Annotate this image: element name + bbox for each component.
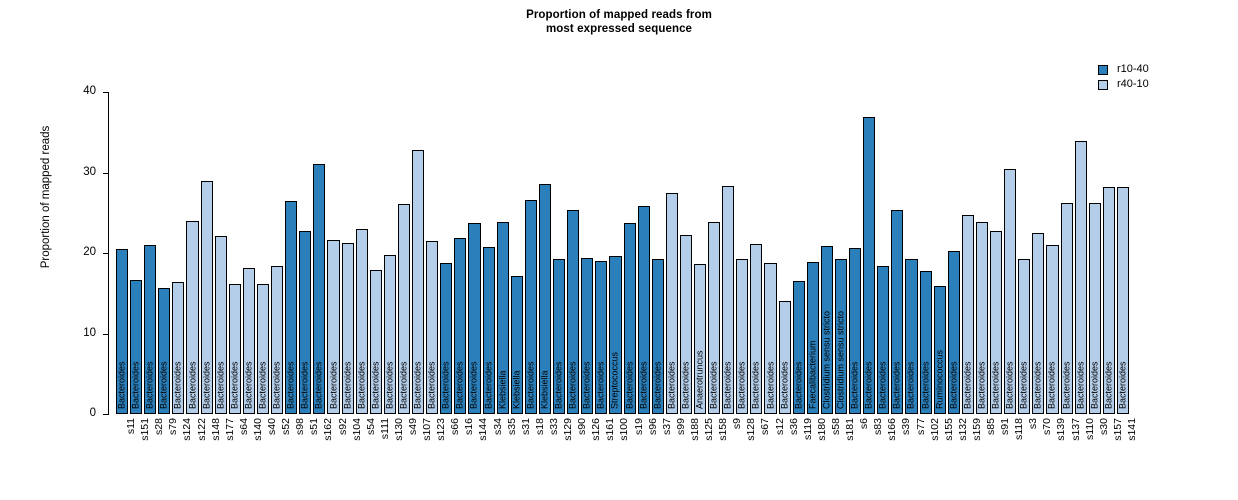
bar: Bacteroides — [722, 186, 734, 414]
x-axis-tick-label: s100 — [619, 418, 629, 441]
bar-taxon-label: Bacteroides — [1076, 361, 1085, 409]
x-axis-tick-label: s137 — [1071, 418, 1081, 441]
bar: Bacteroides — [525, 200, 537, 414]
bar: Clostridium sensu stricto — [835, 259, 847, 414]
bar: Bacteroides — [1117, 187, 1129, 414]
bar: Bacteroides — [1032, 233, 1044, 414]
bar-taxon-label: Bacteroides — [921, 361, 930, 409]
bar-taxon-label: Bacteroides — [385, 361, 394, 409]
bar-taxon-label: Bacteroides — [794, 361, 803, 409]
y-axis-tick-label: 30 — [72, 167, 96, 178]
legend-label-r40-10: r40-10 — [1117, 79, 1149, 90]
legend-swatch-r10-40 — [1098, 65, 1108, 75]
x-axis-tick-label: s31 — [521, 418, 531, 435]
bar-taxon-label: Bacteroides — [160, 361, 169, 409]
chart-title: Proportion of mapped reads from most exp… — [0, 8, 1238, 36]
bar: Bacteroides — [483, 247, 495, 414]
x-axis-tick-label: s188 — [690, 418, 700, 441]
x-axis-tick-label: s77 — [916, 418, 926, 435]
x-axis-tick-label: s70 — [1042, 418, 1052, 435]
x-axis-tick-label: s51 — [309, 418, 319, 435]
legend-swatch-r40-10 — [1098, 80, 1108, 90]
bar: Bacteroides — [877, 266, 889, 414]
bar: Bacteroides — [652, 259, 664, 414]
x-axis-tick-label: s58 — [831, 418, 841, 435]
bar-taxon-label: Bacteroides — [555, 361, 564, 409]
y-axis-tick-label: 20 — [72, 247, 96, 258]
bar: Bacteroides — [342, 243, 354, 414]
bar: Bacteroides — [638, 206, 650, 414]
bar: Bacteroides — [708, 222, 720, 414]
bar-taxon-label: Bacteroides — [1034, 361, 1043, 409]
bar-taxon-label: Bacteroides — [273, 361, 282, 409]
x-axis-tick-label: s181 — [845, 418, 855, 441]
bar-taxon-label: Ruminococcus — [935, 350, 944, 409]
bar-taxon-label: Bacteroides — [174, 361, 183, 409]
x-axis-tick-label: s110 — [1085, 418, 1095, 440]
bar: Bacteroides — [666, 193, 678, 414]
bar-taxon-label: Bacteroides — [992, 361, 1001, 409]
bar-taxon-label: Bacteroides — [118, 361, 127, 409]
bar-taxon-label: Bacteroides — [879, 361, 888, 409]
x-axis-tick-label: s128 — [746, 418, 756, 441]
bar-taxon-label: Bacteroides — [188, 361, 197, 409]
bar: Bacteroides — [793, 281, 805, 414]
bar: Bacteroides — [271, 266, 283, 414]
bar: Bacteroides — [849, 248, 861, 414]
bar: Bacteroides — [201, 181, 213, 414]
x-axis-tick-label: s34 — [493, 418, 503, 435]
x-axis-tick-label: s104 — [352, 418, 362, 441]
bar: Bacteroides — [891, 210, 903, 414]
x-axis-tick-label: s33 — [549, 418, 559, 435]
bar-taxon-label: Bacteroides — [780, 361, 789, 409]
x-axis-tick-label: s92 — [338, 418, 348, 435]
bar: Bacteroides — [130, 280, 142, 414]
bar: Bacteroides — [567, 210, 579, 414]
bar: Bacteroides — [412, 150, 424, 414]
x-axis-tick-label: s30 — [1099, 418, 1109, 435]
x-axis-tick-label: s166 — [887, 418, 897, 441]
y-axis-tick-label: 0 — [72, 408, 96, 419]
bar: Bacteroides — [990, 231, 1002, 414]
x-axis-tick-label: s129 — [563, 418, 573, 441]
bar-taxon-label: Bacteroides — [414, 361, 423, 409]
bar: Bacteroides — [764, 263, 776, 414]
bar-taxon-label: Bacteroides — [301, 361, 310, 409]
x-axis-tick-label: s122 — [197, 418, 207, 441]
bar: Bacteroides — [144, 245, 156, 414]
bar-taxon-label: Bacteroides — [766, 361, 775, 409]
x-axis-tick-label: s107 — [422, 418, 432, 441]
bar-taxon-label: Bacteroides — [399, 361, 408, 409]
bar-taxon-label: Bacteroides — [357, 361, 366, 409]
bar: Bacteroides — [229, 284, 241, 414]
bar-taxon-label: Bacteroides — [259, 361, 268, 409]
x-axis-tick-label: s159 — [972, 418, 982, 441]
bar: Bacteroides — [581, 258, 593, 414]
x-axis-tick-label: s140 — [253, 418, 263, 441]
x-axis-tick-label: s16 — [464, 418, 474, 435]
x-axis-tick-label: s151 — [140, 418, 150, 441]
x-axis-tick-label: s155 — [944, 418, 954, 441]
bar-taxon-label: Klebsiella — [498, 370, 507, 409]
x-axis-tick-label: s3 — [1028, 418, 1038, 429]
bar-taxon-label: Bacteroides — [287, 361, 296, 409]
x-axis-tick-label: s39 — [901, 418, 911, 435]
bar-taxon-label: Clostridium sensu stricto — [837, 311, 846, 409]
bar-taxon-label: Bacteroides — [428, 361, 437, 409]
bar-taxon-label: Streptococcus — [611, 352, 620, 409]
y-axis-tick-label: 10 — [72, 328, 96, 339]
bar-taxon-label: Klebsiella — [512, 370, 521, 409]
x-axis-tick-label: s37 — [662, 418, 672, 435]
bar-taxon-label: Bacteroides — [597, 361, 606, 409]
bar: Bacteroides — [313, 164, 325, 414]
x-axis-tick-label: s102 — [930, 418, 940, 441]
bar-taxon-label: Bacteroides — [329, 361, 338, 409]
x-axis-tick-label: s11 — [126, 418, 136, 434]
x-axis-tick-label: s141 — [1127, 418, 1137, 441]
bar-taxon-label: Bacteroides — [681, 361, 690, 409]
y-axis-label: Proportion of mapped reads — [40, 47, 52, 347]
bar: Bacteroides — [779, 301, 791, 415]
x-axis-tick-label: s6 — [859, 418, 869, 429]
x-axis-tick-label: s85 — [986, 418, 996, 435]
bar-taxon-label: Bacteroides — [1090, 361, 1099, 409]
x-axis-tick-label: s90 — [577, 418, 587, 435]
x-axis-tick-label: s125 — [704, 418, 714, 441]
x-axis-tick-label: s40 — [267, 418, 277, 435]
bar-taxon-label: Bacteroides — [907, 361, 916, 409]
x-axis-tick-label: s119 — [803, 418, 813, 440]
bar: Bacteroides — [468, 223, 480, 414]
bar-taxon-label: Bacteroides — [526, 361, 535, 409]
legend-label-r10-40: r10-40 — [1117, 64, 1149, 75]
bar-taxon-label: Anaerotruncus — [696, 350, 705, 409]
bar: Bacteroides — [736, 259, 748, 414]
x-axis-tick-label: s12 — [775, 418, 785, 435]
chart-canvas: Proportion of mapped reads from most exp… — [0, 0, 1238, 500]
x-axis-tick-label: s36 — [789, 418, 799, 435]
bar-taxon-label: Bacteroides — [1062, 361, 1071, 409]
bar-taxon-label: Bacteroides — [1020, 361, 1029, 409]
x-axis-tick-label: s157 — [1113, 418, 1123, 441]
bar-taxon-label: Bacteroides — [667, 361, 676, 409]
bar: Bacteroides — [595, 261, 607, 414]
chart-legend: r10-40 r40-10 — [1098, 62, 1149, 92]
bar-taxon-label: Bacteroides — [202, 361, 211, 409]
bar-taxon-label: Bacteroides — [470, 361, 479, 409]
bar-taxon-label: Bacteroides — [216, 361, 225, 409]
x-axis-tick-label: s96 — [648, 418, 658, 435]
x-axis-tick-label: s180 — [817, 418, 827, 441]
bar-taxon-label: Bacteroides — [1006, 361, 1015, 409]
bar-taxon-label: Bacteroides — [343, 361, 352, 409]
y-axis-tick — [103, 414, 109, 415]
x-axis-tick-label: s162 — [323, 418, 333, 441]
x-axis-tick-label: s177 — [225, 418, 235, 441]
x-axis-tick-label: s79 — [168, 418, 178, 435]
bar-taxon-label: Bacteroides — [146, 361, 155, 409]
x-axis-tick-label: s18 — [535, 418, 545, 435]
bar: Bacteroides — [750, 244, 762, 414]
bar: Bacteroides — [327, 240, 339, 414]
y-axis-tick — [103, 334, 109, 335]
bar: Clostridium sensu stricto — [821, 246, 833, 414]
bar-taxon-label: Klebsiella — [540, 370, 549, 409]
bar: Bacteroides — [356, 229, 368, 414]
x-axis-tick-label: s99 — [676, 418, 686, 435]
bar: Bacteroides — [920, 271, 932, 414]
bar-taxon-label: Faecalibacterium — [808, 340, 817, 409]
bar: Bacteroides — [1089, 203, 1101, 414]
bar-taxon-label: Bacteroides — [851, 361, 860, 409]
bar-taxon-label: Bacteroides — [1104, 361, 1113, 409]
bar: Bacteroides — [426, 241, 438, 414]
bar: Bacteroides — [440, 263, 452, 414]
chart-title-line2: most expressed sequence — [0, 22, 1238, 36]
x-axis-tick-label: s132 — [958, 418, 968, 441]
bar: Bacteroides — [370, 270, 382, 414]
bar: Bacteroides — [186, 221, 198, 414]
x-axis-tick-label: s161 — [605, 418, 615, 441]
bar-taxon-label: Bacteroides — [569, 361, 578, 409]
bar-taxon-label: Bacteroides — [893, 361, 902, 409]
bar: Bacteroides — [1103, 187, 1115, 414]
bar: Bacteroides — [299, 231, 311, 414]
bar-taxon-label: Clostridium sensu stricto — [822, 311, 831, 409]
bar-taxon-label: Bacteroides — [456, 361, 465, 409]
x-axis-tick-label: s83 — [873, 418, 883, 435]
bar-taxon-label: Bacteroides — [653, 361, 662, 409]
bar: Bacteroides — [680, 235, 692, 415]
bar: Bacteroides — [948, 251, 960, 414]
x-axis-tick-label: s124 — [182, 418, 192, 441]
x-axis-tick-label: s52 — [281, 418, 291, 435]
bar-taxon-label: Bacteroides — [738, 361, 747, 409]
x-axis-tick-label: s91 — [1000, 418, 1010, 435]
y-axis-tick — [103, 92, 109, 93]
bar-taxon-label: Bacteroides — [977, 361, 986, 409]
bar: Klebsiella — [497, 222, 509, 414]
bar: Bacteroides — [257, 284, 269, 414]
bar: Bacteroides — [1075, 141, 1087, 414]
bar: Bacteroides — [1018, 259, 1030, 414]
bar: Bacteroides — [398, 204, 410, 414]
bar-taxon-label: Bacteroides — [230, 361, 239, 409]
x-axis-tick-label: s19 — [634, 418, 644, 435]
x-axis-tick-label: s66 — [450, 418, 460, 435]
x-axis-tick-label: s111 — [380, 418, 390, 439]
x-axis-tick-label: s126 — [591, 418, 601, 441]
bar: Klebsiella — [539, 184, 551, 414]
bar: Klebsiella — [511, 276, 523, 414]
bar: Bacteroides — [1046, 245, 1058, 414]
x-axis-tick-label: s144 — [478, 418, 488, 441]
bar-taxon-label: Bacteroides — [625, 361, 634, 409]
x-axis-tick-label: s130 — [394, 418, 404, 441]
bar: Ruminococcus — [934, 286, 946, 414]
legend-item-r10-40: r10-40 — [1098, 62, 1149, 77]
bar: Bacteroides — [243, 268, 255, 414]
bar-taxon-label: Bacteroides — [315, 361, 324, 409]
bar: Bacteroides — [384, 255, 396, 414]
bar-taxon-label: Bacteroides — [724, 361, 733, 409]
y-axis-tick — [103, 173, 109, 174]
bar: Bacteroides — [158, 288, 170, 414]
bar-taxon-label: Bacteroides — [484, 361, 493, 409]
bar: Bacteroides — [553, 259, 565, 414]
bar-taxon-label: Bacteroides — [1118, 361, 1127, 409]
x-axis-tick-label: s158 — [718, 418, 728, 441]
x-axis-tick-labels: s11s151s28s79s124s122s148s177s64s140s40s… — [116, 418, 1131, 498]
bar-series-container: BacteroidesBacteroidesBacteroidesBactero… — [116, 92, 1131, 414]
x-axis-tick-label: s9 — [732, 418, 742, 429]
x-axis-tick-label: s67 — [760, 418, 770, 435]
bar: Bacteroides — [1061, 203, 1073, 414]
bar: Bacteroides — [905, 259, 917, 414]
x-axis-tick-label: s54 — [366, 418, 376, 435]
bar: Bacteroides — [624, 223, 636, 414]
x-axis-tick-label: s49 — [408, 418, 418, 435]
bar-taxon-label: Bacteroides — [244, 361, 253, 409]
bar-taxon-label: Bacteroides — [132, 361, 141, 409]
bar-taxon-label: Bacteroides — [710, 361, 719, 409]
bar: Bacteroides — [172, 282, 184, 414]
x-axis-tick-label: s64 — [239, 418, 249, 435]
bar-taxon-label: Bacteroides — [949, 361, 958, 409]
bar-taxon-label: Bacteroides — [639, 361, 648, 409]
bar-taxon-label: Bacteroides — [371, 361, 380, 409]
x-axis-tick-label: s123 — [436, 418, 446, 441]
x-axis-tick-label: s28 — [154, 418, 164, 435]
x-axis-tick-label: s118 — [1014, 418, 1024, 440]
x-axis-tick-label: s148 — [211, 418, 221, 441]
bar-taxon-label: Bacteroides — [752, 361, 761, 409]
x-axis-tick-label: s98 — [295, 418, 305, 435]
bar: Bacteroides — [863, 117, 875, 414]
bar-taxon-label: Bacteroides — [963, 361, 972, 409]
bar: Bacteroides — [215, 236, 227, 414]
y-axis-tick-label: 40 — [72, 86, 96, 97]
bar: Bacteroides — [1004, 169, 1016, 414]
legend-item-r40-10: r40-10 — [1098, 77, 1149, 92]
bar-taxon-label: Bacteroides — [583, 361, 592, 409]
x-axis-tick-label: s35 — [507, 418, 517, 435]
bar: Streptococcus — [609, 256, 621, 414]
bar-taxon-label: Bacteroides — [442, 361, 451, 409]
bar: Anaerotruncus — [694, 264, 706, 414]
bar: Bacteroides — [285, 201, 297, 414]
bar-taxon-label: Bacteroides — [865, 361, 874, 409]
y-axis-tick — [103, 253, 109, 254]
bar: Bacteroides — [454, 238, 466, 414]
bar: Faecalibacterium — [807, 262, 819, 414]
x-axis-tick-label: s139 — [1056, 418, 1066, 441]
chart-title-line1: Proportion of mapped reads from — [526, 9, 712, 21]
bar: Bacteroides — [962, 215, 974, 414]
bar: Bacteroides — [976, 222, 988, 414]
bar: Bacteroides — [116, 249, 128, 414]
bar-taxon-label: Bacteroides — [1048, 361, 1057, 409]
